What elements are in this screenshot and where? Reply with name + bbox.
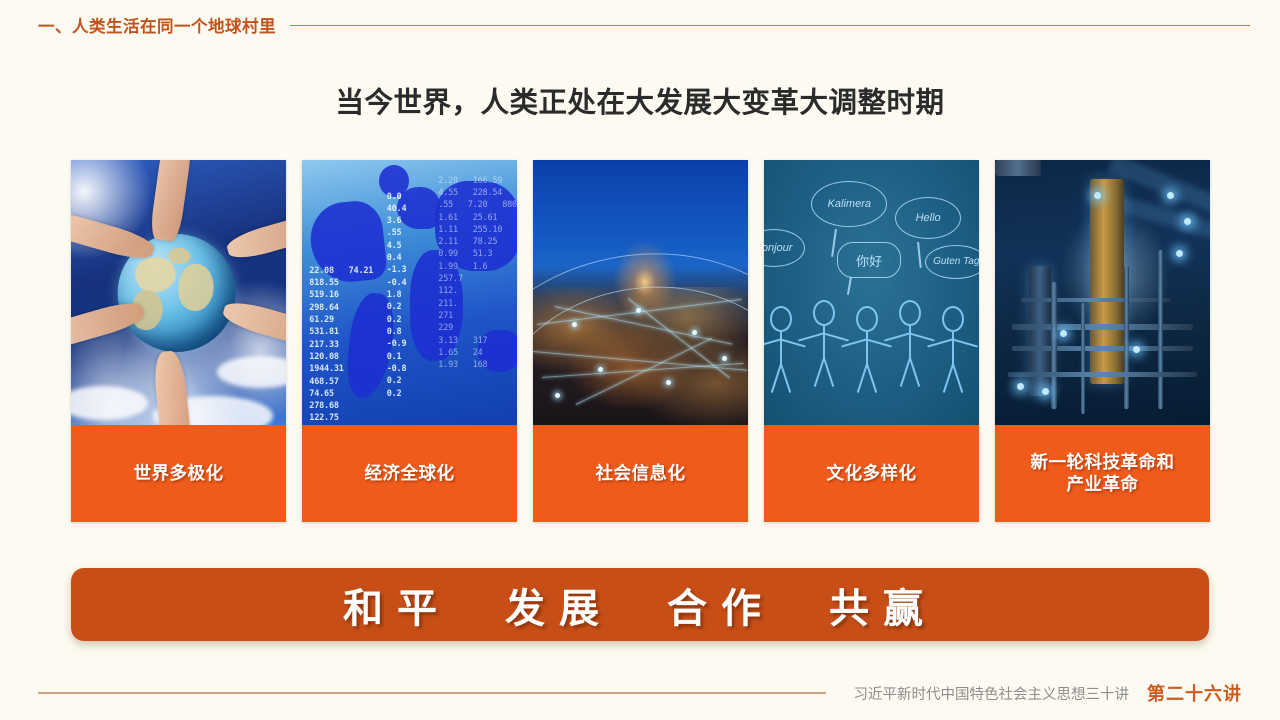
header-divider-line (290, 25, 1250, 27)
blue-world-map-financial-data-photo: 22.08 74.21 818.55 519.16 298.64 61.29 5… (302, 160, 517, 425)
hand-shape (220, 297, 286, 351)
speech-bubble-hello: Hello (895, 197, 961, 239)
card-economic-globalization[interactable]: 22.08 74.21 818.55 519.16 298.64 61.29 5… (302, 160, 517, 522)
card-cultural-diversity[interactable]: Kalimera Hello Bonjour 你好 Guten Tag (764, 160, 979, 522)
card-new-tech-revolution[interactable]: 新一轮科技革命和 产业革命 (995, 160, 1210, 522)
card-row: 世界多极化 22.08 74.21 818.55 519.16 298.64 6… (71, 160, 1210, 522)
card-label: 新一轮科技革命和 产业革命 (995, 425, 1210, 522)
slogan-banner: 和平 发展 合作 共赢 (71, 568, 1209, 641)
hand-shape (71, 210, 156, 264)
card-world-multipolarization[interactable]: 世界多极化 (71, 160, 286, 522)
slide-footer: 习近平新时代中国特色社会主义思想三十讲 第二十六讲 (38, 678, 1242, 708)
cloud-shape (217, 356, 286, 388)
cloud-shape (71, 386, 148, 420)
footer-series-title: 习近平新时代中国特色社会主义思想三十讲 (854, 683, 1130, 704)
chalkboard-stick-figures-greetings-photo: Kalimera Hello Bonjour 你好 Guten Tag (764, 160, 979, 425)
slogan-text: 和平 发展 合作 共赢 (343, 576, 937, 634)
speech-bubble-kalimera: Kalimera (811, 181, 887, 227)
speech-bubble-bonjour: Bonjour (764, 229, 805, 267)
page-title: 当今世界，人类正处在大发展大变革大调整时期 (0, 80, 1280, 121)
section-title: 一、人类生活在同一个地球村里 (38, 13, 276, 37)
speech-bubble-nihao: 你好 (837, 242, 901, 278)
card-label: 文化多样化 (764, 425, 979, 522)
footer-divider-line (38, 692, 826, 693)
slide-root: 一、人类生活在同一个地球村里 当今世界，人类正处在大发展大变革大调整时期 (0, 0, 1280, 720)
card-social-informatization[interactable]: 社会信息化 (533, 160, 748, 522)
slide-header: 一、人类生活在同一个地球村里 (38, 10, 1250, 40)
night-city-network-photo (533, 160, 748, 425)
card-label: 社会信息化 (533, 425, 748, 522)
industrial-refinery-night-photo (995, 160, 1210, 425)
card-label: 世界多极化 (71, 425, 286, 522)
hand-shape (149, 160, 195, 242)
card-label: 经济全球化 (302, 425, 517, 522)
speech-bubble-gutentag: Guten Tag (925, 245, 979, 279)
footer-lecture-number: 第二十六讲 (1147, 680, 1242, 706)
financial-numbers-right: 2.28 166.59 152 4.55 228.54 204 .55 7.20… (435, 171, 517, 425)
hands-holding-globe-photo (71, 160, 286, 425)
hand-shape (224, 210, 286, 263)
hand-shape (152, 349, 192, 425)
